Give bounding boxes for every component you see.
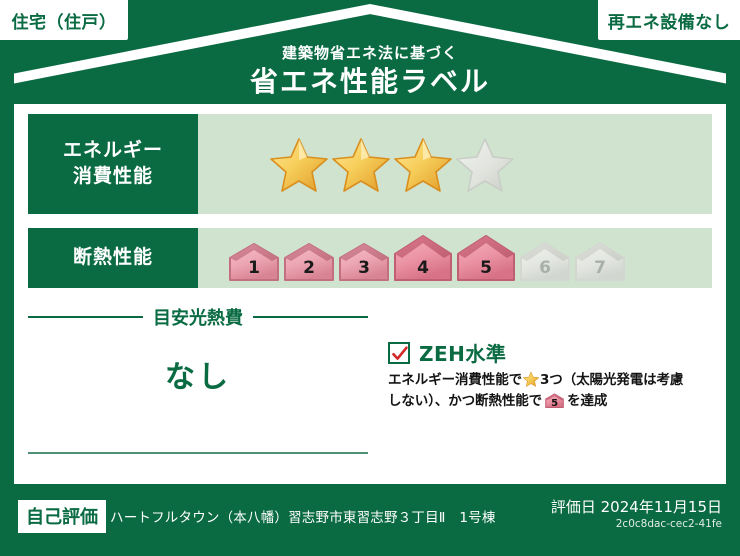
- house-grade-2: 2: [283, 242, 335, 282]
- energy-performance-label: エネルギー 消費性能: [28, 114, 198, 214]
- inline-house-icon: 5: [545, 392, 564, 409]
- energy-label-line1: エネルギー: [63, 138, 163, 164]
- lower-section: 目安光熱費 なし ZEH水準 エネルギー消費性能で: [28, 300, 712, 472]
- house-grade-4: 4: [393, 234, 453, 282]
- insulation-label-text: 断熱性能: [73, 245, 153, 271]
- zeh-desc-part1: エネルギー消費性能で: [388, 372, 522, 388]
- house-grade-6: 6: [519, 240, 571, 282]
- zeh-checkbox: [388, 342, 410, 364]
- heading-rule-right: [253, 316, 368, 318]
- insulation-house-scale: 1 2 3: [228, 234, 629, 282]
- zeh-title: ZEH水準: [419, 338, 506, 367]
- self-evaluation-badge: 自己評価: [18, 500, 106, 533]
- utility-cost-heading-text: 目安光熱費: [143, 304, 253, 330]
- energy-performance-row: エネルギー 消費性能: [28, 114, 712, 214]
- zeh-desc-part3: を達成: [567, 393, 607, 409]
- star-3-filled: [394, 136, 452, 192]
- house-grade-3-number: 3: [338, 258, 390, 278]
- house-grade-6-number: 6: [519, 258, 571, 278]
- star-2-filled: [332, 136, 390, 192]
- house-grade-3: 3: [338, 242, 390, 282]
- house-grade-2-number: 2: [283, 258, 335, 278]
- building-type-tag: 住宅（住戸）: [0, 0, 128, 40]
- inline-house-number: 5: [545, 399, 564, 409]
- evaluation-id: 2c0c8dac-cec2-41fe: [616, 518, 722, 530]
- utility-cost-section: 目安光熱費 なし: [28, 300, 376, 472]
- star-4-empty: [456, 136, 514, 192]
- house-grade-7-number: 7: [574, 258, 626, 278]
- insulation-performance-label: 断熱性能: [28, 228, 198, 288]
- utility-cost-heading: 目安光熱費: [28, 304, 368, 330]
- utility-cost-bottom-rule: [28, 452, 368, 454]
- energy-label-root: 住宅（住戸） 再エネ設備なし 建築物省エネ法に基づく 省エネ性能ラベル エネルギ…: [0, 0, 740, 556]
- house-grade-1-number: 1: [228, 258, 280, 278]
- energy-label-line2: 消費性能: [73, 164, 153, 190]
- evaluation-date: 評価日 2024年11月15日: [551, 496, 722, 517]
- house-grade-5: 5: [456, 234, 516, 282]
- utility-cost-value: なし: [28, 352, 368, 396]
- star-1-filled: [270, 136, 328, 192]
- house-grade-5-number: 5: [456, 258, 516, 278]
- insulation-rating: 1 2 3: [198, 228, 712, 288]
- renewable-energy-label: 再エネ設備なし: [608, 8, 731, 33]
- property-name: ハートフルタウン（本八幡）習志野市東習志野３丁目Ⅱ 1号棟: [110, 506, 496, 526]
- energy-star-rating: [198, 114, 712, 214]
- insulation-performance-row: 断熱性能: [28, 228, 712, 288]
- zeh-description: エネルギー消費性能で 3つ（太陽光発電は考慮しない）、かつ断熱性能で 5を達成: [388, 370, 694, 412]
- label-card: エネルギー 消費性能: [14, 104, 726, 484]
- zeh-heading: ZEH水準: [388, 338, 506, 367]
- building-type-label: 住宅（住戸）: [12, 8, 117, 33]
- inline-star-icon: [523, 371, 539, 387]
- label-footer: 自己評価 ハートフルタウン（本八幡）習志野市東習志野３丁目Ⅱ 1号棟 評価日 2…: [0, 484, 740, 556]
- house-grade-1: 1: [228, 242, 280, 282]
- heading-rule-left: [28, 316, 143, 318]
- zeh-section: ZEH水準 エネルギー消費性能で 3つ（太陽光発電は考慮しない）、かつ断熱性能で…: [376, 300, 712, 472]
- house-grade-4-number: 4: [393, 258, 453, 278]
- house-grade-7: 7: [574, 240, 626, 282]
- renewable-energy-tag: 再エネ設備なし: [598, 0, 740, 40]
